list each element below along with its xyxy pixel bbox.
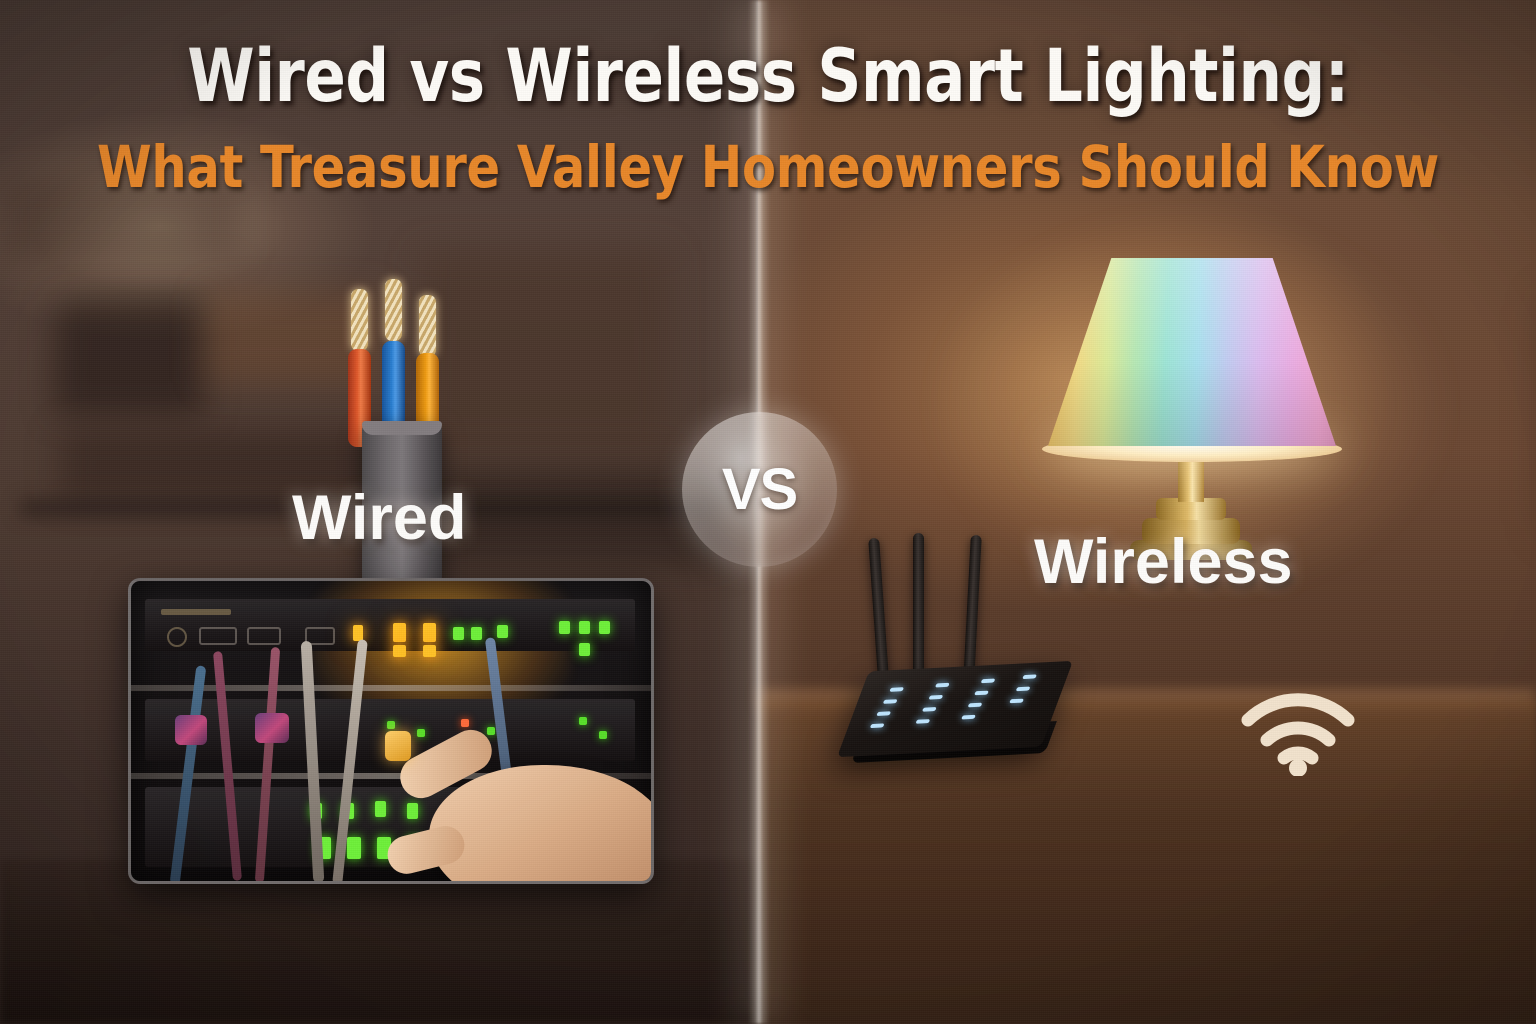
banner-heading-block: Wired vs Wireless Smart Lighting: What T… bbox=[0, 0, 1536, 201]
router-top-panel bbox=[837, 661, 1073, 757]
status-led-green bbox=[487, 727, 495, 735]
status-led-green bbox=[417, 729, 425, 737]
router-led bbox=[883, 699, 898, 704]
router-led bbox=[928, 695, 943, 700]
copper-strand-icon bbox=[351, 289, 368, 351]
status-led-amber bbox=[393, 645, 406, 657]
rack-marking bbox=[161, 609, 231, 615]
patch-connector bbox=[175, 715, 207, 745]
router-led bbox=[1022, 674, 1037, 679]
status-led-red bbox=[461, 719, 469, 727]
status-led-green bbox=[579, 643, 590, 656]
router-antenna bbox=[913, 533, 924, 683]
status-led-green bbox=[497, 625, 508, 638]
router-led bbox=[961, 715, 976, 720]
floor-surface bbox=[0, 860, 760, 1024]
background-shelf-shape bbox=[55, 300, 205, 415]
status-led-green bbox=[579, 717, 587, 725]
versus-label: VS bbox=[722, 456, 797, 523]
promotional-banner-image: Wired vs Wireless Smart Lighting: What T… bbox=[0, 0, 1536, 1024]
copper-strand-icon bbox=[385, 279, 402, 341]
status-led-green bbox=[599, 731, 607, 739]
router-led bbox=[922, 707, 937, 712]
left-side-label: Wired bbox=[292, 482, 466, 554]
page-subtitle: What Treasure Valley Homeowners Should K… bbox=[38, 119, 1497, 201]
router-led bbox=[1016, 687, 1031, 692]
router-led bbox=[974, 691, 989, 696]
versus-badge: VS bbox=[682, 412, 837, 567]
cable-connector-tip bbox=[385, 731, 411, 761]
router-led bbox=[1009, 699, 1024, 704]
status-led-amber bbox=[423, 623, 436, 642]
status-led-green bbox=[599, 621, 610, 634]
router-led bbox=[889, 687, 904, 692]
rgb-smart-lamp-icon bbox=[1020, 250, 1360, 560]
status-led-green bbox=[375, 801, 386, 817]
status-led-green bbox=[347, 837, 361, 859]
hand-plugging-cable-icon bbox=[429, 765, 654, 884]
router-led bbox=[870, 723, 885, 728]
patch-connector bbox=[255, 713, 289, 743]
rack-port bbox=[199, 627, 237, 645]
router-antenna bbox=[868, 538, 889, 678]
status-led-green bbox=[387, 721, 395, 729]
status-led-green bbox=[579, 621, 590, 634]
status-led-green bbox=[407, 803, 418, 819]
copper-strand-icon bbox=[419, 295, 436, 357]
status-led-green bbox=[471, 627, 482, 640]
rack-shelf-rail bbox=[131, 685, 651, 691]
rack-dial bbox=[167, 627, 187, 647]
router-antenna bbox=[963, 535, 982, 681]
status-led-green bbox=[453, 627, 464, 640]
status-led-amber bbox=[393, 623, 406, 642]
page-title: Wired vs Wireless Smart Lighting: bbox=[54, 0, 1482, 119]
router-led bbox=[935, 683, 950, 688]
network-rack-icon bbox=[128, 578, 654, 884]
router-led bbox=[915, 719, 930, 724]
status-led-green bbox=[559, 621, 570, 634]
router-led bbox=[876, 711, 891, 716]
router-led bbox=[968, 703, 983, 708]
router-led bbox=[981, 679, 996, 684]
right-side-label: Wireless bbox=[1034, 526, 1293, 598]
status-led-amber bbox=[423, 645, 436, 657]
rack-port bbox=[247, 627, 281, 645]
wifi-signal-icon bbox=[1238, 676, 1358, 776]
electrical-cable-bundle-icon bbox=[330, 275, 470, 495]
